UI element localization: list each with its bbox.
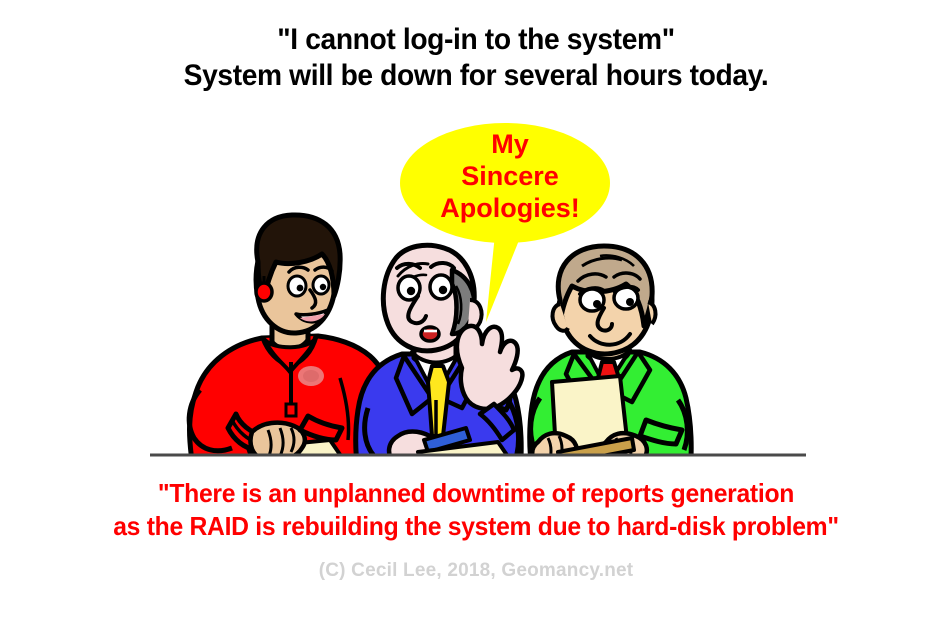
caption-line-1: "There is an unplanned downtime of repor…: [24, 477, 928, 510]
character-man-right: [530, 246, 692, 472]
cartoon-canvas: "I cannot log-in to the system" System w…: [0, 0, 952, 636]
copyright-credit: (C) Cecil Lee, 2018, Geomancy.net: [0, 560, 952, 582]
caption-line-2: as the RAID is rebuilding the system due…: [24, 510, 928, 543]
speech-bubble-ellipse: [400, 123, 610, 243]
caption-text: "There is an unplanned downtime of repor…: [24, 477, 928, 543]
